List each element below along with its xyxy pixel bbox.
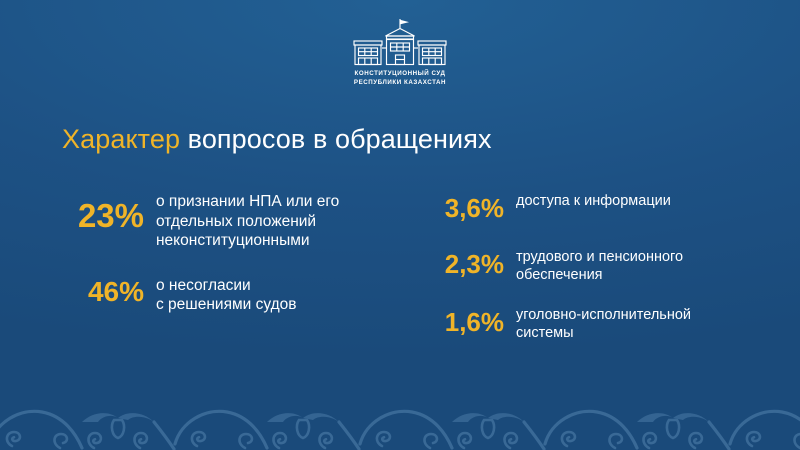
slide-canvas: КОНСТИТУЦИОННЫЙ СУД РЕСПУБЛИКИ КАЗАХСТАН… [0,0,800,450]
stat-label-line: доступа к информации [516,192,671,210]
parliament-building-icon [341,18,459,66]
stat-label: уголовно-исполнительной системы [516,306,691,342]
stat-label: о признании НПА или его отдельных положе… [156,192,339,251]
organization-logo: КОНСТИТУЦИОННЫЙ СУД РЕСПУБЛИКИ КАЗАХСТАН [0,18,800,88]
stat-label: доступа к информации [516,192,671,210]
stat-label: о несогласии с решениями судов [156,273,296,315]
stat-value: 46% [62,273,144,306]
stat-label-line: уголовно-исполнительной [516,306,691,324]
stat-label-line: трудового и пенсионного [516,248,683,266]
logo-caption-line-1: КОНСТИТУЦИОННЫЙ СУД [354,69,446,78]
stat-value: 2,3% [432,248,504,277]
stat-item: 46% о несогласии с решениями судов [62,273,432,315]
logo-caption-line-2: РЕСПУБЛИКИ КАЗАХСТАН [354,78,446,87]
stat-value: 23% [62,192,144,232]
stat-label-line: отдельных положений [156,212,339,232]
stat-value: 3,6% [432,192,504,221]
stat-label-line: о признании НПА или его [156,192,339,212]
ornament-pattern-icon [0,392,800,450]
stat-item: 23% о признании НПА или его отдельных по… [62,192,432,251]
stat-label-line: обеспечения [516,266,683,284]
stat-item: 3,6% доступа к информации [432,192,780,221]
statistics-column-left: 23% о признании НПА или его отдельных по… [62,192,432,343]
stat-label-line: о несогласии [156,276,296,296]
slide-title-accent: Характер [62,124,180,154]
statistics-column-right: 3,6% доступа к информации 2,3% трудового… [432,192,780,343]
stat-item: 1,6% уголовно-исполнительной системы [432,306,780,342]
kazakh-ornament-band [0,392,800,450]
logo-caption: КОНСТИТУЦИОННЫЙ СУД РЕСПУБЛИКИ КАЗАХСТАН [354,69,446,88]
stat-label-line: неконституционными [156,231,339,251]
stat-item: 2,3% трудового и пенсионного обеспечения [432,248,780,284]
slide-title: Характер вопросов в обращениях [62,124,492,155]
stat-label-line: с решениями судов [156,295,296,315]
stat-value: 1,6% [432,306,504,335]
statistics-columns: 23% о признании НПА или его отдельных по… [62,192,780,343]
stat-label-line: системы [516,324,691,342]
stat-label: трудового и пенсионного обеспечения [516,248,683,284]
slide-title-rest: вопросов в обращениях [180,124,491,154]
